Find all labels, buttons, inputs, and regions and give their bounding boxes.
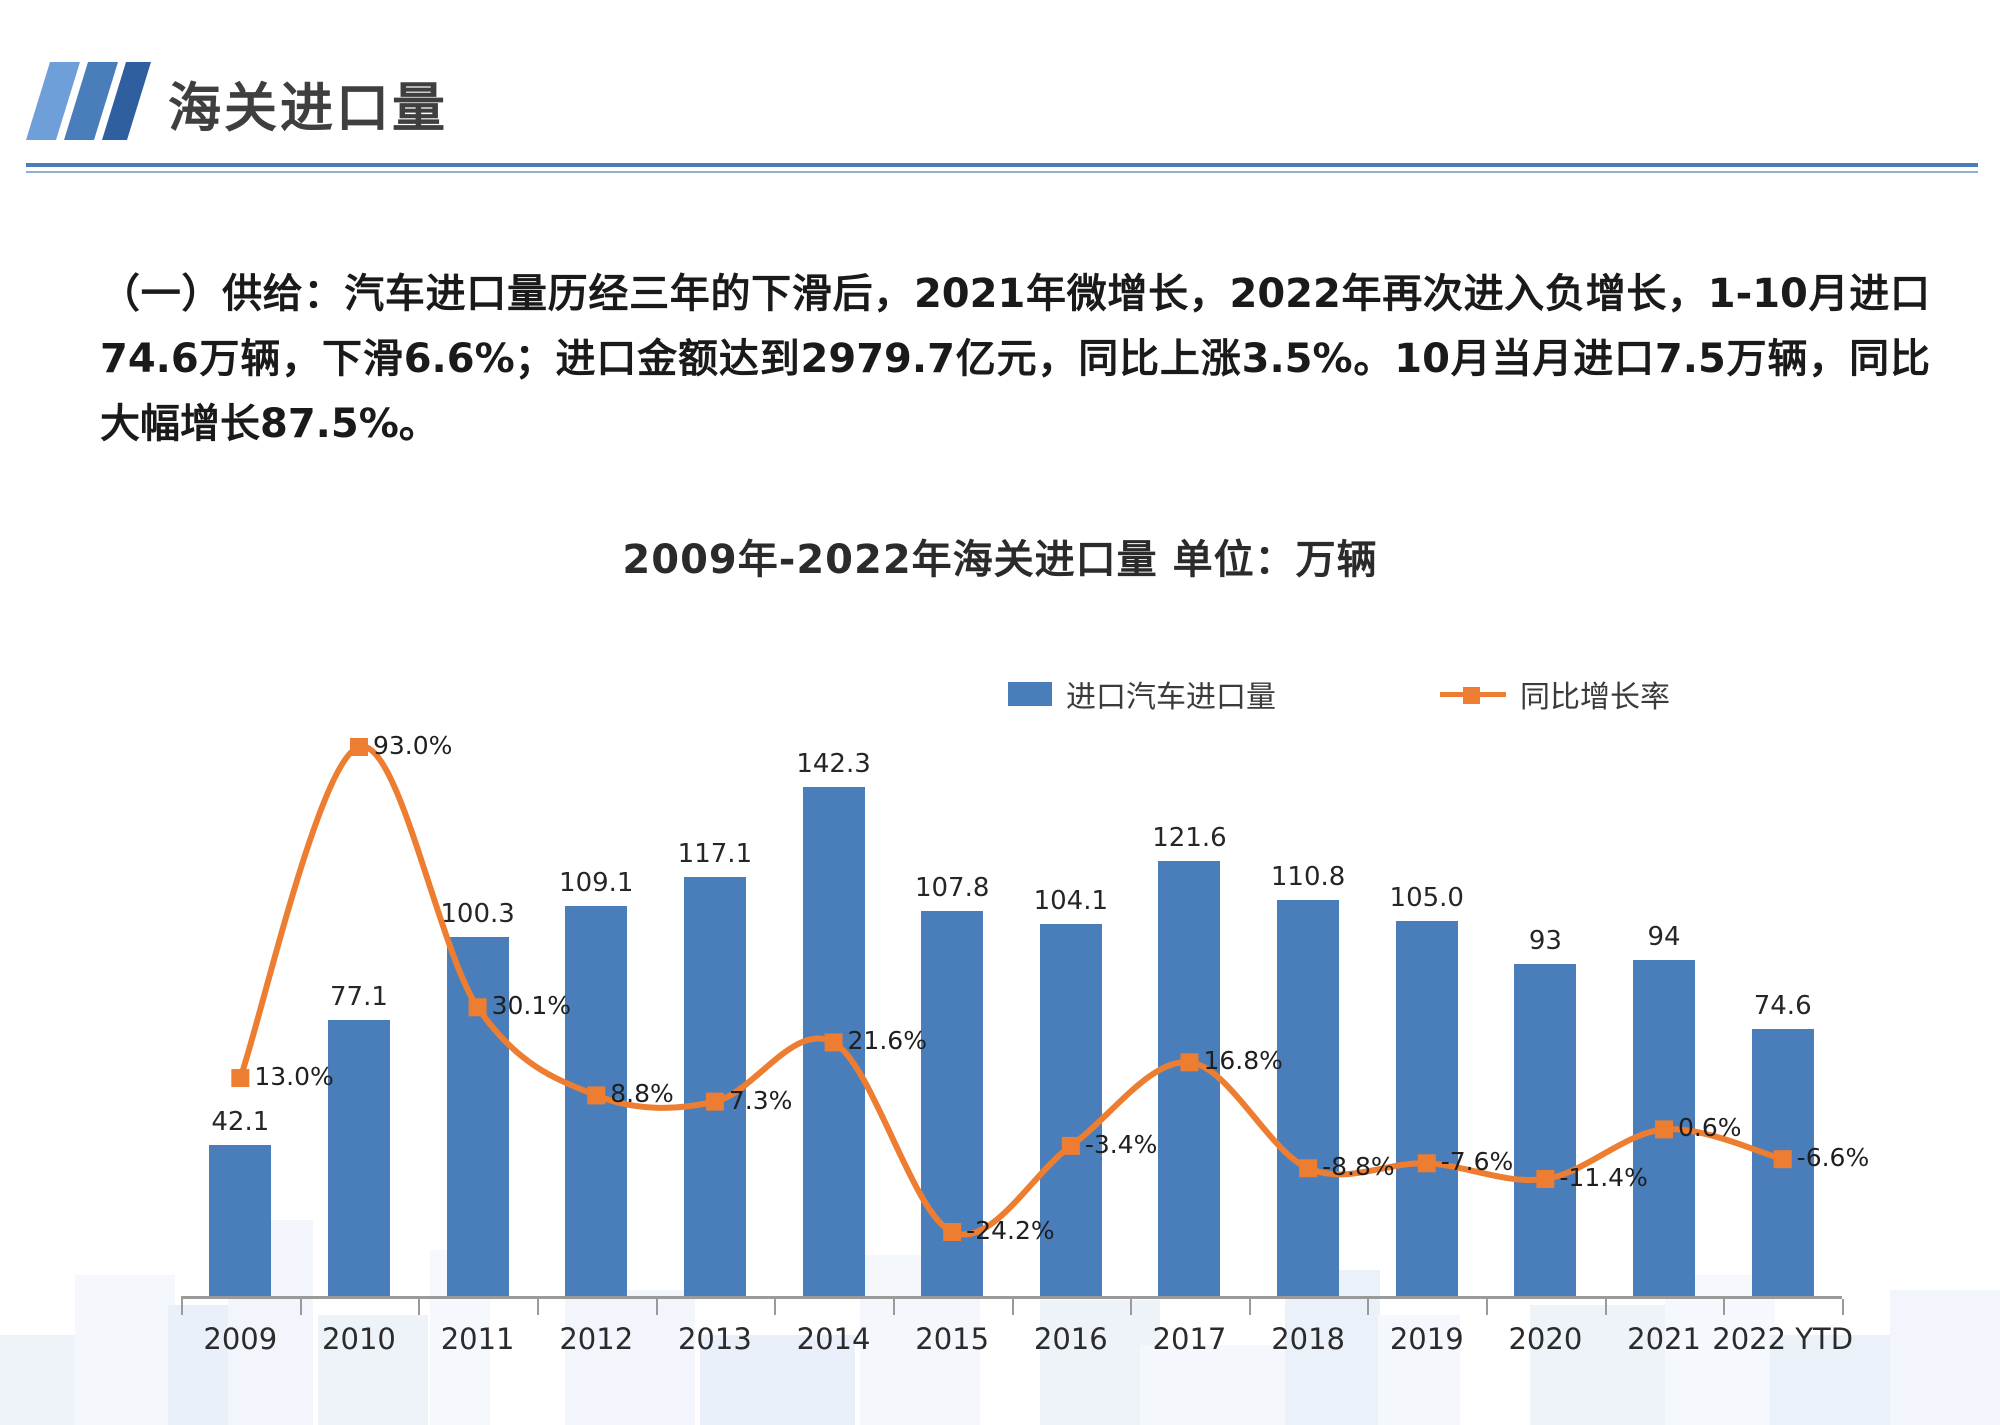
growth-rate-label: 13.0% bbox=[254, 1062, 333, 1091]
line-marker-2020[interactable] bbox=[1536, 1170, 1554, 1188]
x-axis-tick bbox=[300, 1299, 302, 1315]
legend-item-bar-series[interactable]: 进口汽车进口量 bbox=[1008, 672, 1276, 716]
header-rule-primary bbox=[26, 163, 1978, 167]
chart-x-axis: 2009201020112012201320142015201620172018… bbox=[0, 1296, 2000, 1386]
line-marker-2009[interactable] bbox=[231, 1069, 249, 1087]
header-rule-secondary bbox=[26, 171, 1978, 173]
x-axis-tick bbox=[774, 1299, 776, 1315]
x-axis-tick bbox=[1605, 1299, 1607, 1315]
x-axis-tick bbox=[1130, 1299, 1132, 1315]
x-axis-tick bbox=[1486, 1299, 1488, 1315]
line-marker-2014[interactable] bbox=[825, 1033, 843, 1051]
page-header: 海关进口量 bbox=[0, 0, 2000, 175]
growth-rate-label: -3.4% bbox=[1085, 1130, 1158, 1159]
line-marker-2012[interactable] bbox=[587, 1086, 605, 1104]
line-marker-2018[interactable] bbox=[1299, 1159, 1317, 1177]
x-axis-tick bbox=[1012, 1299, 1014, 1315]
legend-bar-swatch-icon bbox=[1008, 682, 1052, 706]
line-marker-2016[interactable] bbox=[1062, 1137, 1080, 1155]
line-marker-2019[interactable] bbox=[1418, 1154, 1436, 1172]
line-marker-2021[interactable] bbox=[1655, 1120, 1673, 1138]
x-axis-tick bbox=[537, 1299, 539, 1315]
line-marker-2015[interactable] bbox=[943, 1223, 961, 1241]
growth-rate-label: -11.4% bbox=[1559, 1163, 1647, 1192]
growth-rate-label: 30.1% bbox=[492, 991, 571, 1020]
growth-rate-label: 16.8% bbox=[1203, 1046, 1282, 1075]
line-marker-2017[interactable] bbox=[1180, 1053, 1198, 1071]
x-axis-tick bbox=[1842, 1299, 1844, 1315]
growth-rate-label: 0.6% bbox=[1678, 1113, 1742, 1142]
x-axis-tick bbox=[418, 1299, 420, 1315]
growth-rate-label: 7.3% bbox=[729, 1086, 793, 1115]
three-slash-logo-icon bbox=[26, 62, 151, 140]
growth-rate-label: 21.6% bbox=[848, 1026, 927, 1055]
x-axis-tick bbox=[1249, 1299, 1251, 1315]
line-marker-2011[interactable] bbox=[469, 998, 487, 1016]
x-axis-tick bbox=[893, 1299, 895, 1315]
line-marker-2022-YTD[interactable] bbox=[1774, 1150, 1792, 1168]
growth-rate-line bbox=[240, 747, 1782, 1235]
growth-rate-label: 8.8% bbox=[610, 1079, 674, 1108]
page-title: 海关进口量 bbox=[168, 66, 448, 142]
line-marker-2010[interactable] bbox=[350, 738, 368, 756]
growth-rate-label: -24.2% bbox=[966, 1216, 1054, 1245]
x-axis-tick bbox=[181, 1299, 183, 1315]
legend-bar-label: 进口汽车进口量 bbox=[1066, 672, 1276, 716]
supply-summary-paragraph: （一）供给：汽车进口量历经三年的下滑后，2021年微增长，2022年再次进入负增… bbox=[100, 262, 1930, 456]
growth-rate-label: 93.0% bbox=[373, 731, 452, 760]
chart-plot-area: 42.177.1100.3109.1117.1142.3107.8104.112… bbox=[0, 690, 2000, 1310]
chart-legend: 进口汽车进口量 同比增长率 bbox=[0, 672, 2000, 716]
x-axis-tick bbox=[1723, 1299, 1725, 1315]
legend-line-swatch-icon bbox=[1440, 682, 1506, 706]
legend-line-label: 同比增长率 bbox=[1520, 672, 1670, 716]
x-axis-tick bbox=[1367, 1299, 1369, 1315]
x-axis-label-2022-YTD: 2022 YTD bbox=[1693, 1322, 1873, 1356]
chart-title: 2009年-2022年海关进口量 单位：万辆 bbox=[0, 527, 2000, 585]
growth-rate-label: -8.8% bbox=[1322, 1152, 1395, 1181]
growth-rate-label: -6.6% bbox=[1797, 1143, 1870, 1172]
line-marker-2013[interactable] bbox=[706, 1093, 724, 1111]
x-axis-tick bbox=[656, 1299, 658, 1315]
legend-item-line-series[interactable]: 同比增长率 bbox=[1440, 672, 1670, 716]
growth-rate-label: -7.6% bbox=[1441, 1147, 1514, 1176]
